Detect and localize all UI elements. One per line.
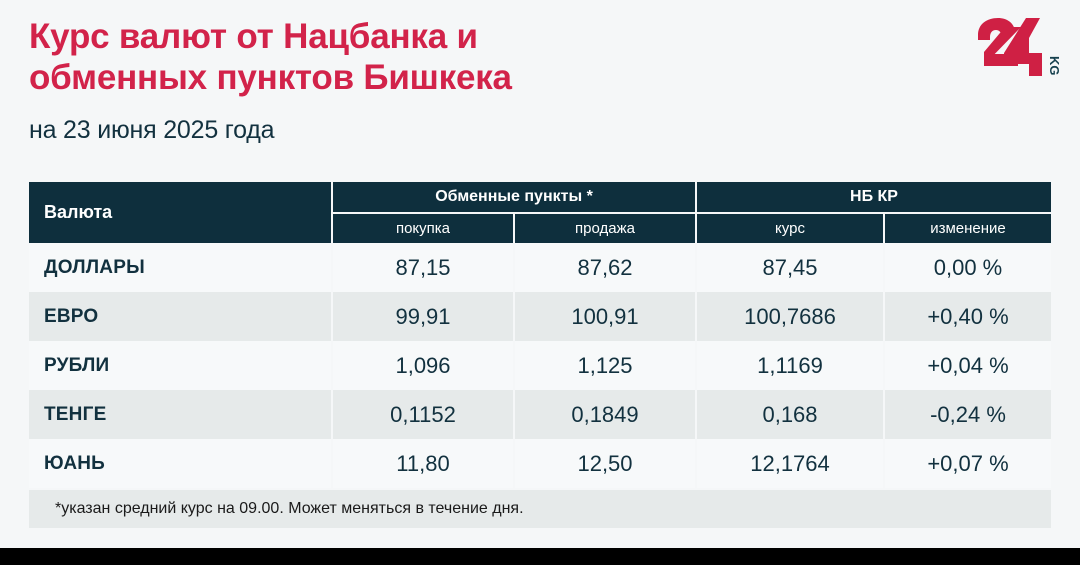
cell-buy: 99,91: [331, 292, 513, 341]
cell-change: +0,40 %: [883, 292, 1051, 341]
cell-currency-name: ЮАНЬ: [29, 439, 331, 488]
table-row: РУБЛИ 1,096 1,125 1,1169 +0,04 %: [29, 341, 1051, 390]
cell-currency-name: ЕВРО: [29, 292, 331, 341]
page-title: Курс валют от Нацбанка и обменных пункто…: [29, 16, 729, 99]
table-footnote: *указан средний курс на 09.00. Может мен…: [29, 490, 1051, 528]
column-header-rate: курс: [695, 214, 883, 243]
cell-sell: 1,125: [513, 341, 695, 390]
logo-kg-text: KG: [1047, 56, 1060, 76]
bottom-bar: [0, 548, 1080, 565]
cell-buy: 87,15: [331, 243, 513, 292]
cell-rate: 1,1169: [695, 341, 883, 390]
cell-change: +0,04 %: [883, 341, 1051, 390]
cell-rate: 87,45: [695, 243, 883, 292]
page-header: Курс валют от Нацбанка и обменных пункто…: [0, 0, 1080, 170]
table-header: Валюта Обменные пункты * НБ КР покупка п…: [29, 182, 1051, 243]
table-body: ДОЛЛАРЫ 87,15 87,62 87,45 0,00 % ЕВРО 99…: [29, 243, 1051, 488]
cell-buy: 11,80: [331, 439, 513, 488]
table-row: ЕВРО 99,91 100,91 100,7686 +0,40 %: [29, 292, 1051, 341]
24kg-logo-icon: KG: [974, 18, 1060, 76]
cell-sell: 12,50: [513, 439, 695, 488]
page-title-line-2: обменных пунктов Бишкека: [29, 57, 729, 98]
cell-buy: 0,1152: [331, 390, 513, 439]
cell-rate: 12,1764: [695, 439, 883, 488]
column-group-header-nbkr: НБ КР: [695, 182, 1051, 214]
cell-change: 0,00 %: [883, 243, 1051, 292]
cell-currency-name: ДОЛЛАРЫ: [29, 243, 331, 292]
column-group-header-exchange-offices: Обменные пункты *: [331, 182, 695, 214]
column-header-buy: покупка: [331, 214, 513, 243]
cell-buy: 1,096: [331, 341, 513, 390]
column-header-sell: продажа: [513, 214, 695, 243]
table-row: ЮАНЬ 11,80 12,50 12,1764 +0,07 %: [29, 439, 1051, 488]
page-subtitle-date: на 23 июня 2025 года: [29, 116, 274, 145]
cell-change: -0,24 %: [883, 390, 1051, 439]
currency-rates-table: Валюта Обменные пункты * НБ КР покупка п…: [29, 182, 1051, 488]
brand-logo-24kg: KG: [974, 18, 1060, 76]
cell-change: +0,07 %: [883, 439, 1051, 488]
cell-sell: 100,91: [513, 292, 695, 341]
cell-rate: 0,168: [695, 390, 883, 439]
column-header-change: изменение: [883, 214, 1051, 243]
cell-currency-name: РУБЛИ: [29, 341, 331, 390]
cell-currency-name: ТЕНГЕ: [29, 390, 331, 439]
cell-sell: 0,1849: [513, 390, 695, 439]
table-row: ДОЛЛАРЫ 87,15 87,62 87,45 0,00 %: [29, 243, 1051, 292]
column-header-currency: Валюта: [29, 182, 331, 243]
cell-rate: 100,7686: [695, 292, 883, 341]
page-title-line-1: Курс валют от Нацбанка и: [29, 16, 729, 57]
cell-sell: 87,62: [513, 243, 695, 292]
table-row: ТЕНГЕ 0,1152 0,1849 0,168 -0,24 %: [29, 390, 1051, 439]
